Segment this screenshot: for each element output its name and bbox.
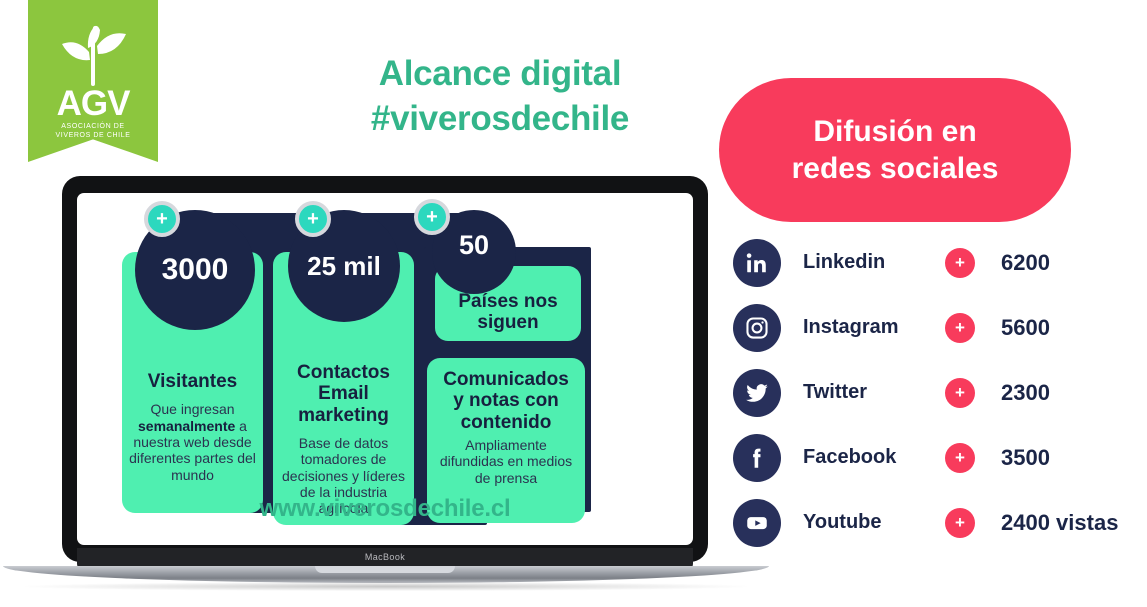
social-row-linkedin[interactable]: Linkedin + 6200 xyxy=(733,230,1133,295)
website-url[interactable]: www.viverosdechile.cl xyxy=(77,495,693,523)
card-heading-line1: Contactos xyxy=(280,362,407,383)
card-body-before: Que ingresan xyxy=(150,401,234,417)
card-heading2-line3: contenido xyxy=(434,412,578,433)
logo-subtitle-line2: VIVEROS DE CHILE xyxy=(28,131,158,140)
page-title-line2: #viverosdechile xyxy=(330,97,670,142)
instagram-icon xyxy=(733,304,781,352)
logo-acronym: AGV xyxy=(28,86,158,121)
social-value: 2400 vistas xyxy=(1001,510,1118,536)
youtube-icon xyxy=(733,499,781,547)
social-name: Instagram xyxy=(803,316,945,339)
linkedin-icon xyxy=(733,239,781,287)
laptop-base-notch xyxy=(315,566,455,573)
difusion-pill: Difusión en redes sociales xyxy=(719,78,1071,222)
social-name: Linkedin xyxy=(803,251,945,274)
laptop-screen: Visitantes Que ingresan semanalmente a n… xyxy=(77,193,693,545)
social-name: Twitter xyxy=(803,381,945,404)
infographic-canvas: AGV ASOCIACIÓN DE VIVEROS DE CHILE Alcan… xyxy=(0,0,1147,607)
twitter-icon xyxy=(733,369,781,417)
facebook-icon xyxy=(733,434,781,482)
social-plus-badge: + xyxy=(945,443,975,473)
difusion-pill-line1: Difusión en xyxy=(792,113,999,151)
social-name: Facebook xyxy=(803,446,945,469)
logo-subtitle: ASOCIACIÓN DE VIVEROS DE CHILE xyxy=(28,122,158,141)
difusion-pill-text: Difusión en redes sociales xyxy=(792,113,999,188)
card-plus-badge[interactable]: + xyxy=(414,199,450,235)
social-row-youtube[interactable]: Youtube + 2400 vistas xyxy=(733,490,1133,555)
card-body-bold: semanalmente xyxy=(138,418,235,434)
laptop-brand-label: MacBook xyxy=(77,552,693,562)
card-body-2: Ampliamente difundidas en medios de pren… xyxy=(434,437,578,486)
difusion-pill-line2: redes sociales xyxy=(792,150,999,188)
social-plus-badge: + xyxy=(945,508,975,538)
card-heading-line2: Email xyxy=(280,383,407,404)
social-name: Youtube xyxy=(803,511,945,534)
social-value: 5600 xyxy=(1001,315,1050,341)
card-heading2-line1: Comunicados xyxy=(434,369,578,390)
social-value: 3500 xyxy=(1001,445,1050,471)
card-heading-line3: marketing xyxy=(280,405,407,426)
card-heading: Países nos siguen xyxy=(442,291,574,334)
plant-sprout-icon xyxy=(57,16,129,91)
card-heading: Contactos Email marketing xyxy=(280,362,407,426)
social-network-list: Linkedin + 6200 Instagram + 5600 T xyxy=(733,230,1133,555)
card-heading-2: Comunicados y notas con contenido xyxy=(434,369,578,433)
social-plus-badge: + xyxy=(945,378,975,408)
logo-subtitle-line1: ASOCIACIÓN DE xyxy=(28,122,158,131)
social-row-facebook[interactable]: Facebook + 3500 xyxy=(733,425,1133,490)
laptop-shadow xyxy=(25,582,747,591)
page-title: Alcance digital #viverosdechile xyxy=(330,52,670,142)
card-heading: Visitantes xyxy=(129,371,256,392)
social-row-instagram[interactable]: Instagram + 5600 xyxy=(733,295,1133,360)
laptop-mockup: Visitantes Que ingresan semanalmente a n… xyxy=(55,176,715,607)
social-row-twitter[interactable]: Twitter + 2300 xyxy=(733,360,1133,425)
card-plus-badge[interactable]: + xyxy=(144,201,180,237)
social-value: 6200 xyxy=(1001,250,1050,276)
page-title-line1: Alcance digital xyxy=(330,52,670,97)
card-plus-badge[interactable]: + xyxy=(295,201,331,237)
social-plus-badge: + xyxy=(945,313,975,343)
social-plus-badge: + xyxy=(945,248,975,278)
agv-logo: AGV ASOCIACIÓN DE VIVEROS DE CHILE xyxy=(28,0,158,162)
card-body: Que ingresan semanalmente a nuestra web … xyxy=(129,401,256,483)
social-value: 2300 xyxy=(1001,380,1050,406)
card-heading2-line2: y notas con xyxy=(434,390,578,411)
